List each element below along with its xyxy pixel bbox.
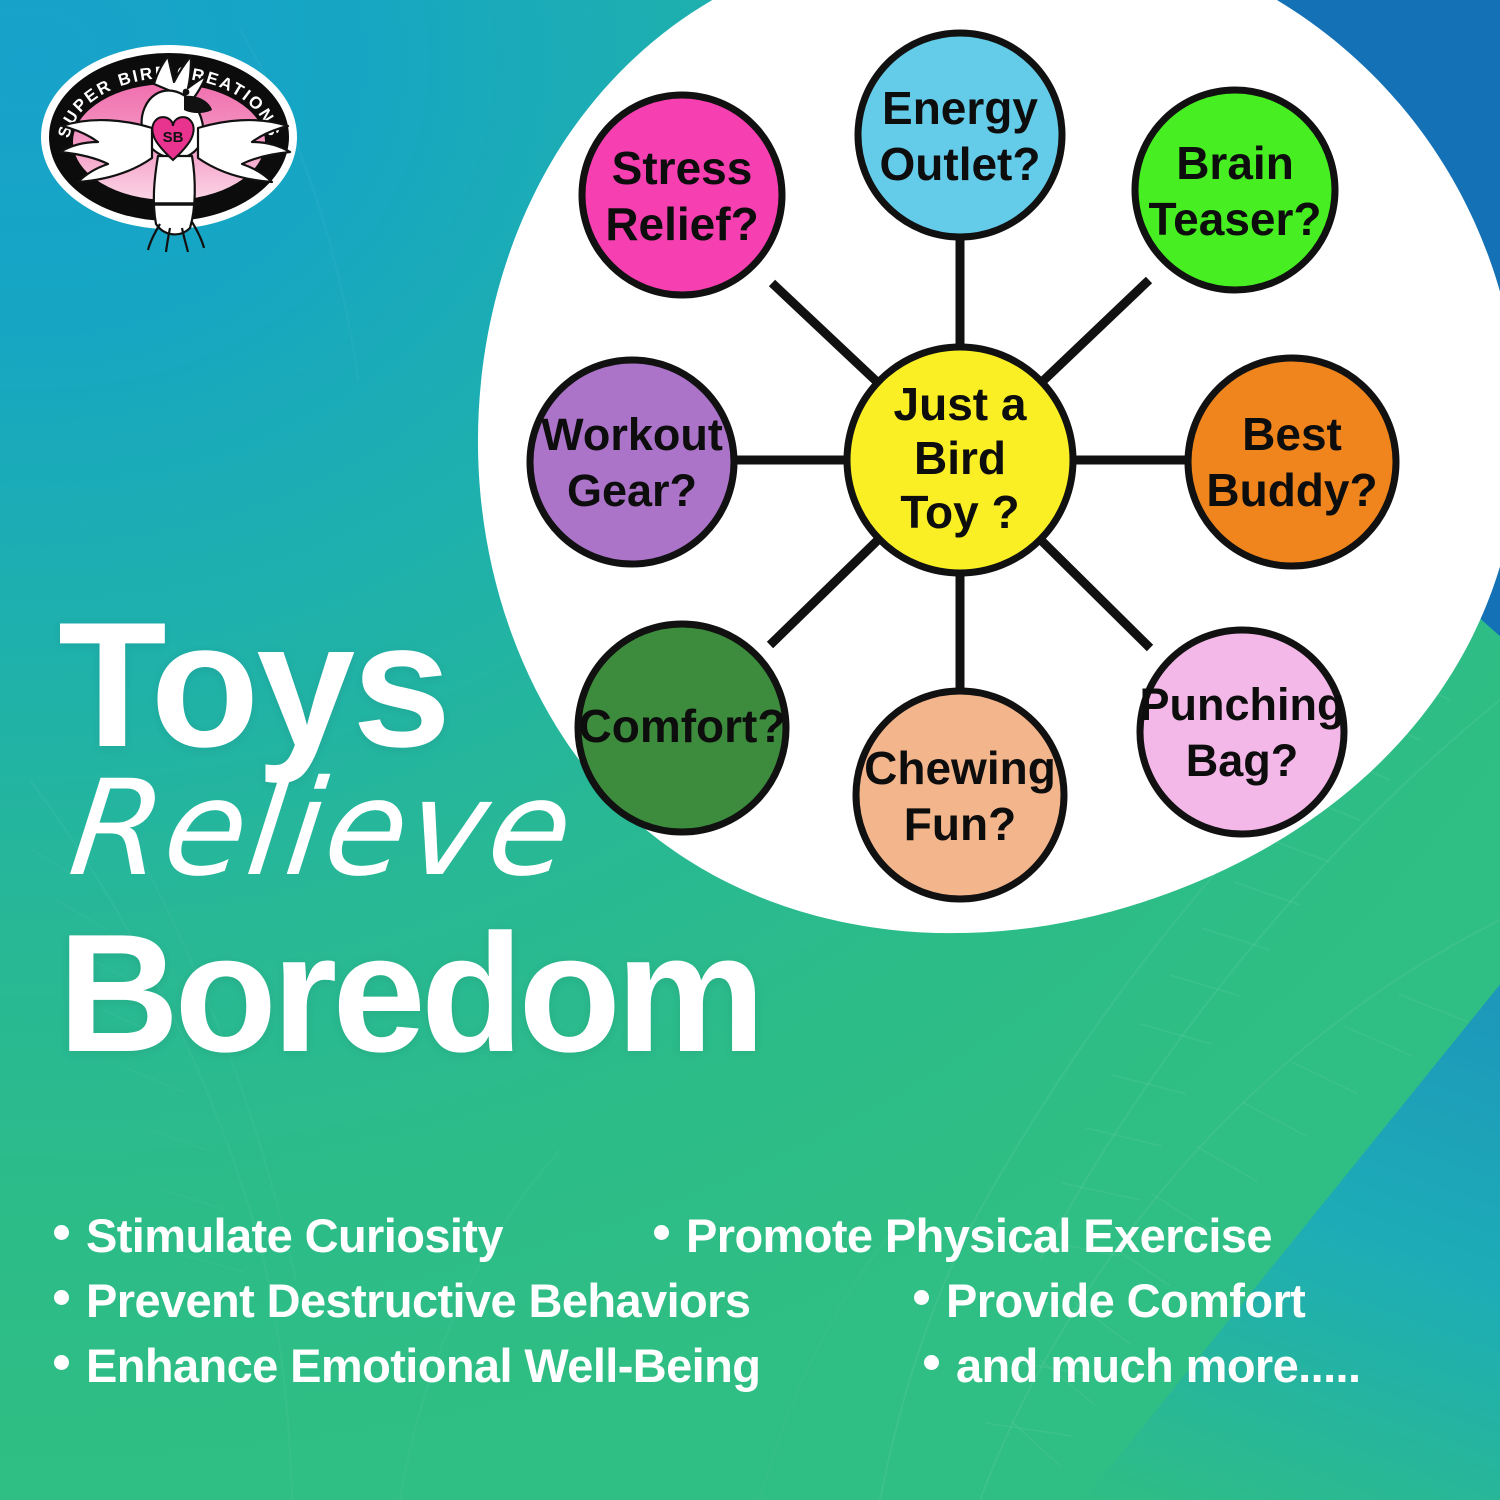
bullet-dot-icon — [914, 1290, 929, 1305]
benefits-row: Enhance Emotional Well-Being and much mo… — [54, 1338, 1454, 1393]
headline-line-relieve: Relieve — [64, 763, 906, 895]
node-label-line1: Stress — [612, 142, 753, 194]
bullet-dot-icon — [54, 1290, 69, 1305]
list-item: and much more..... — [924, 1338, 1360, 1393]
node-label-line2: Fun? — [904, 798, 1016, 850]
node-label-line2: Teaser? — [1148, 193, 1321, 245]
node-brain-teaser[interactable]: Brain Teaser? — [1135, 90, 1335, 290]
center-label-line1: Just a — [894, 378, 1027, 430]
benefit-text: Stimulate Curiosity — [86, 1208, 503, 1263]
node-punching-bag[interactable]: Punching Bag? — [1140, 630, 1345, 834]
center-label-line2: Bird — [914, 432, 1006, 484]
node-label-line2: Bag? — [1186, 735, 1299, 786]
list-item: Provide Comfort — [914, 1273, 1305, 1328]
headline-block: Toys Relieve Boredom — [58, 600, 898, 1076]
node-workout-gear[interactable]: Workout Gear? — [530, 360, 734, 564]
bullet-dot-icon — [654, 1225, 669, 1240]
headline-line-boredom: Boredom — [58, 911, 898, 1076]
node-energy-outlet[interactable]: Energy Outlet? — [858, 33, 1062, 237]
node-stress-relief[interactable]: Stress Relief? — [582, 95, 782, 295]
center-label-line3: Toy ? — [900, 486, 1019, 538]
bullet-dot-icon — [924, 1355, 939, 1370]
node-label-line1: Best — [1242, 408, 1342, 460]
node-label-line1: Workout — [541, 409, 723, 460]
node-center-just-a-bird-toy[interactable]: Just a Bird Toy ? — [847, 347, 1073, 573]
list-item: Enhance Emotional Well-Being — [54, 1338, 924, 1393]
benefit-text: and much more..... — [956, 1338, 1360, 1393]
benefit-text: Promote Physical Exercise — [686, 1208, 1272, 1263]
node-label-line2: Relief? — [605, 198, 758, 250]
bullet-dot-icon — [54, 1355, 69, 1370]
list-item: Promote Physical Exercise — [654, 1208, 1272, 1263]
node-label-line1: Energy — [882, 82, 1038, 134]
headline-line-toys: Toys — [58, 600, 898, 769]
benefit-text: Provide Comfort — [946, 1273, 1305, 1328]
node-label-line2: Buddy? — [1206, 464, 1377, 516]
benefit-text: Prevent Destructive Behaviors — [86, 1273, 750, 1328]
benefit-text: Enhance Emotional Well-Being — [86, 1338, 760, 1393]
list-item: Stimulate Curiosity — [54, 1208, 654, 1263]
benefits-row: Prevent Destructive Behaviors Provide Co… — [54, 1273, 1454, 1328]
logo-heart-initials: SB — [163, 129, 184, 146]
benefits-row: Stimulate Curiosity Promote Physical Exe… — [54, 1208, 1454, 1263]
node-label-line2: Gear? — [567, 465, 697, 516]
list-item: Prevent Destructive Behaviors — [54, 1273, 914, 1328]
brand-logo: SUPER BIRD CREATIONS SB — [34, 32, 304, 257]
node-label-line1: Punching — [1140, 679, 1345, 730]
node-label-line2: Outlet? — [880, 138, 1041, 190]
benefits-list: Stimulate Curiosity Promote Physical Exe… — [54, 1208, 1454, 1393]
node-best-buddy[interactable]: Best Buddy? — [1188, 358, 1396, 566]
bullet-dot-icon — [54, 1225, 69, 1240]
node-label-line1: Brain — [1176, 137, 1294, 189]
